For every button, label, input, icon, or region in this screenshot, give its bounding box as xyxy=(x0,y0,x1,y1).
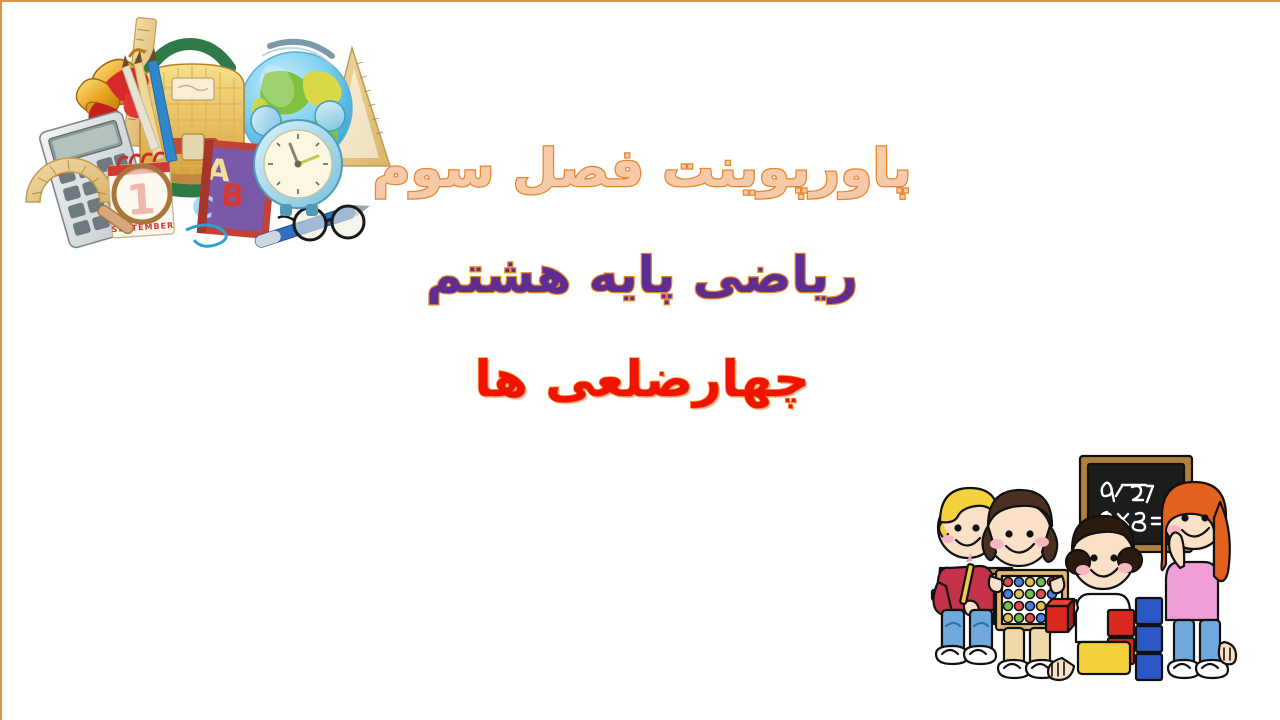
slide-title-line-3: چهارضلعی ها xyxy=(332,353,952,406)
slide-title-line-1: پاورپوینت فصل سوم xyxy=(332,142,952,197)
children-classroom-clipart xyxy=(902,442,1242,707)
slide-canvas: 1 SEPTEMBER A B C xyxy=(0,0,1280,720)
slide-title-line-2: ریاضی پایه هشتم xyxy=(332,249,952,302)
girl-redhair-icon xyxy=(1162,482,1237,678)
title-block: پاورپوینت فصل سوم ریاضی پایه هشتم چهارضل… xyxy=(332,142,952,406)
svg-text:B: B xyxy=(220,178,246,215)
girl-abacus-icon xyxy=(982,490,1068,678)
